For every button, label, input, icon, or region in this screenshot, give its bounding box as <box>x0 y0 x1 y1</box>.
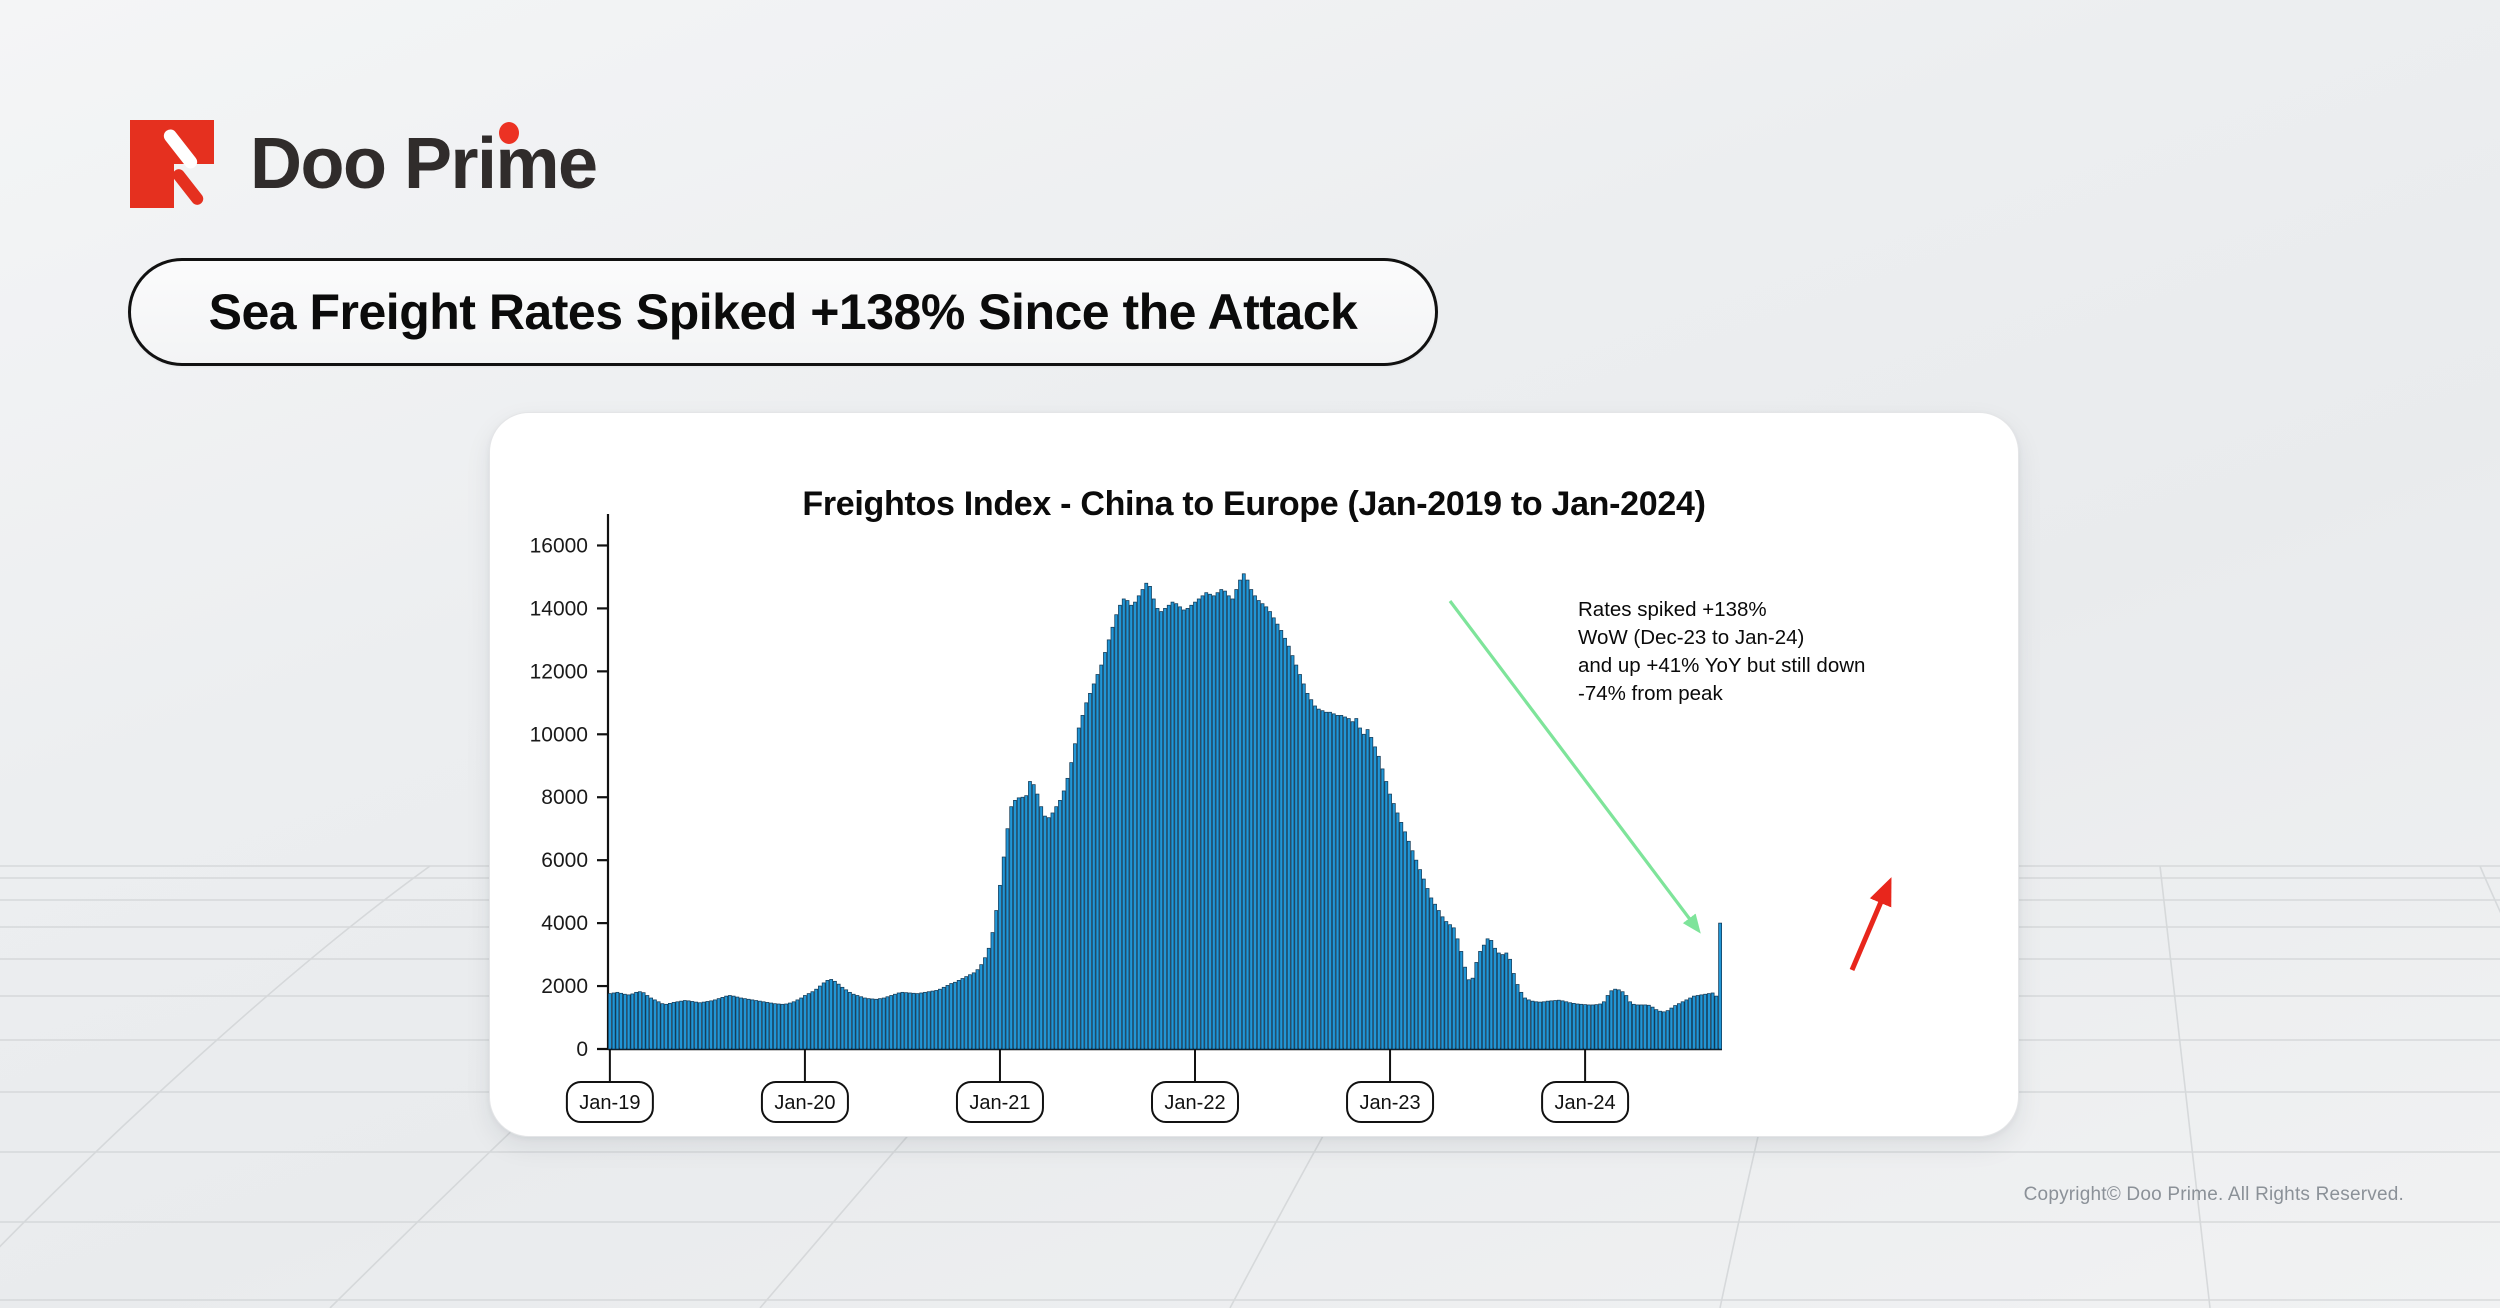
chart-bar <box>1599 1004 1602 1049</box>
chart-bar <box>1719 923 1722 1049</box>
chart-bar <box>1512 973 1515 1049</box>
chart-bar <box>1370 737 1373 1049</box>
chart-bar <box>1216 593 1219 1049</box>
chart-bar <box>1419 870 1422 1049</box>
chart-bar <box>1036 794 1039 1049</box>
chart-bar <box>1145 583 1148 1049</box>
uptrend-arrow-icon <box>1852 890 1886 970</box>
chart-bar <box>706 1001 709 1049</box>
chart-bar <box>1524 998 1527 1049</box>
brand-name-text: Doo Prime <box>250 124 597 204</box>
chart-bar <box>1659 1011 1662 1049</box>
chart-bar <box>1066 778 1069 1049</box>
chart-bar <box>1685 1000 1688 1049</box>
chart-bar <box>762 1002 765 1049</box>
chart-bar <box>1332 714 1335 1049</box>
x-tick-label: Jan-23 <box>1359 1092 1420 1114</box>
chart-bar <box>668 1003 671 1049</box>
chart-bar <box>1539 1002 1542 1049</box>
chart-bar <box>713 1000 716 1049</box>
chart-bar <box>826 980 829 1049</box>
annotation-line-1: Rates spiked +138% <box>1578 598 1767 621</box>
chart-bar <box>976 970 979 1049</box>
chart-bar <box>1186 608 1189 1049</box>
chart-bar <box>758 1001 761 1049</box>
chart-bar <box>680 1001 683 1049</box>
chart-bar <box>1092 684 1095 1049</box>
chart-bar <box>863 998 866 1049</box>
chart-bar <box>833 981 836 1049</box>
chart-bar <box>871 999 874 1049</box>
headline-text: Sea Freight Rates Spiked +138% Since the… <box>209 283 1358 341</box>
chart-bar <box>1250 590 1253 1049</box>
chart-bar <box>965 977 968 1049</box>
chart-bar <box>1017 798 1020 1049</box>
y-tick-label: 4000 <box>541 912 588 935</box>
chart-bar <box>807 994 810 1049</box>
chart-bar <box>1422 879 1425 1049</box>
chart-bar <box>1580 1004 1583 1049</box>
chart-bar <box>1032 785 1035 1049</box>
chart-bar <box>1152 599 1155 1049</box>
chart-bar <box>991 933 994 1049</box>
chart-bar <box>755 1001 758 1049</box>
annotation-line-4: -74% from peak <box>1578 682 1723 705</box>
chart-bar <box>766 1002 769 1049</box>
chart-bar <box>946 985 949 1049</box>
chart-bar <box>683 1001 686 1049</box>
chart-bar <box>1629 1002 1632 1049</box>
chart-bar <box>1340 715 1343 1049</box>
chart-bar <box>665 1004 668 1049</box>
chart-bar <box>1617 990 1620 1049</box>
chart-bar <box>1257 601 1260 1049</box>
chart-bar <box>1088 693 1091 1049</box>
chart-bar <box>1242 574 1245 1049</box>
chart-bar <box>1081 715 1084 1049</box>
chart-bar <box>781 1004 784 1049</box>
chart-bar <box>1486 939 1489 1049</box>
y-tick-label: 16000 <box>530 534 588 557</box>
chart-bar <box>1460 951 1463 1049</box>
chart-bar <box>950 984 953 1049</box>
chart-bar <box>773 1004 776 1049</box>
chart-bar <box>1051 813 1054 1049</box>
chart-bar <box>942 987 945 1049</box>
chart-bar <box>1546 1001 1549 1049</box>
chart-bar <box>1415 860 1418 1049</box>
chart-bar <box>1407 841 1410 1049</box>
chart-bar <box>856 996 859 1050</box>
chart-bar <box>867 999 870 1049</box>
chart-bar <box>1299 675 1302 1050</box>
x-axis-ticks: Jan-19Jan-20Jan-21Jan-22Jan-23Jan-24 <box>567 1049 1628 1122</box>
chart-bar <box>968 975 971 1049</box>
chart-bar <box>792 1002 795 1049</box>
chart-bar <box>1576 1004 1579 1049</box>
chart-bar <box>1272 618 1275 1049</box>
chart-bar <box>1182 610 1185 1049</box>
chart-bar <box>1621 992 1624 1049</box>
chart-bar <box>1426 889 1429 1050</box>
chart-bar <box>852 994 855 1049</box>
chart-bar <box>1205 593 1208 1049</box>
chart-bar <box>1411 851 1414 1049</box>
headline-banner: Sea Freight Rates Spiked +138% Since the… <box>128 258 1438 366</box>
chart-bar <box>1711 993 1714 1049</box>
chart-bar <box>908 993 911 1049</box>
chart-bar <box>1235 590 1238 1049</box>
chart-bar <box>1674 1006 1677 1049</box>
chart-bar <box>1103 652 1106 1049</box>
chart-bar <box>710 1001 713 1049</box>
chart-bar <box>1434 904 1437 1049</box>
chart-bar <box>725 996 728 1049</box>
chart-bar <box>612 993 615 1049</box>
chart-bar <box>953 982 956 1049</box>
chart-bar <box>1520 992 1523 1049</box>
chart-bar <box>1636 1005 1639 1049</box>
chart-bar <box>1006 829 1009 1049</box>
chart-bar <box>623 994 626 1049</box>
chart-bar <box>1160 612 1163 1049</box>
y-tick-label: 12000 <box>530 660 588 683</box>
chart-bar <box>1070 763 1073 1049</box>
chart-bar <box>1689 998 1692 1049</box>
chart-bar <box>1336 715 1339 1049</box>
chart-bar <box>1490 940 1493 1049</box>
chart-bar <box>1133 602 1136 1049</box>
chart-bar <box>661 1004 664 1049</box>
chart-bar <box>1479 951 1482 1049</box>
chart-bar <box>1156 608 1159 1049</box>
chart-bar <box>998 885 1001 1049</box>
chart-bar <box>935 990 938 1049</box>
y-axis-ticks: 0200040006000800010000120001400016000 <box>530 534 608 1061</box>
chart-bar <box>1475 962 1478 1049</box>
chart-bar <box>1261 604 1264 1049</box>
chart-bar <box>1494 948 1497 1049</box>
chart-bar <box>1224 591 1227 1049</box>
chart-bar <box>1542 1002 1545 1049</box>
chart-bar <box>1265 607 1268 1049</box>
chart-bar <box>1085 703 1088 1049</box>
chart-bar <box>1021 797 1024 1049</box>
chart-bar <box>1197 599 1200 1049</box>
chart-bar <box>1028 782 1031 1050</box>
chart-bar <box>1347 719 1350 1049</box>
chart-bar <box>815 989 818 1049</box>
chart-bar <box>1175 604 1178 1049</box>
chart-bar <box>841 987 844 1049</box>
chart-bar <box>1569 1003 1572 1049</box>
chart-bar <box>897 993 900 1049</box>
chart-bar <box>860 997 863 1049</box>
chart-bar <box>1126 601 1129 1049</box>
chart-bar <box>1149 586 1152 1049</box>
chart-bar <box>1696 996 1699 1050</box>
chart-bar <box>1329 712 1332 1049</box>
doo-prime-flag-icon <box>128 118 216 210</box>
chart-bar <box>1239 580 1242 1049</box>
chart-bar <box>1190 605 1193 1049</box>
chart-bar <box>638 992 641 1049</box>
chart-bar <box>770 1003 773 1049</box>
chart-bar <box>1467 980 1470 1049</box>
chart-bar <box>1317 709 1320 1049</box>
chart-bar <box>1561 1001 1564 1049</box>
x-tick-label: Jan-20 <box>774 1092 835 1114</box>
chart-bar <box>1291 656 1294 1049</box>
chart-bar <box>1362 734 1365 1049</box>
chart-bar <box>890 996 893 1050</box>
chart-bar <box>1700 995 1703 1049</box>
chart-bar <box>1351 722 1354 1049</box>
chart-bar <box>972 973 975 1049</box>
chart-bar <box>1355 719 1358 1049</box>
chart-bar <box>1246 580 1249 1049</box>
chart-bar <box>1392 804 1395 1049</box>
chart-bar <box>1377 756 1380 1049</box>
chart-bar <box>1171 602 1174 1049</box>
chart-bar <box>1505 953 1508 1049</box>
chart-bar <box>1707 994 1710 1049</box>
chart-bar <box>1595 1005 1598 1049</box>
chart-bar <box>695 1002 698 1049</box>
chart-bar <box>800 998 803 1049</box>
chart-bar <box>1535 1002 1538 1049</box>
chart-bar <box>608 994 611 1049</box>
chart-bar <box>1670 1008 1673 1049</box>
chart-bar <box>987 948 990 1049</box>
chart-bar <box>1100 665 1103 1049</box>
chart-bar <box>1452 928 1455 1049</box>
y-tick-label: 0 <box>576 1038 588 1061</box>
chart-bar <box>1625 996 1628 1050</box>
chart-bar <box>927 992 930 1049</box>
chart-bar <box>1464 967 1467 1049</box>
chart-bar <box>1404 832 1407 1049</box>
chart-bar <box>1381 769 1384 1049</box>
downtrend-arrow-icon <box>1450 601 1695 926</box>
chart-bar <box>1254 596 1257 1049</box>
y-tick-label: 8000 <box>541 786 588 809</box>
chart-bar <box>1516 984 1519 1049</box>
chart-bar <box>616 992 619 1049</box>
chart-bar <box>1430 898 1433 1049</box>
chart-bar <box>912 993 915 1049</box>
chart-bar <box>1010 807 1013 1049</box>
chart-bar <box>1306 693 1309 1049</box>
logo-accent-dot <box>499 122 519 144</box>
chart-bar <box>732 996 735 1049</box>
rate-spike-annotation: Rates spiked +138% WoW (Dec-23 to Jan-24… <box>1578 598 1865 705</box>
chart-bar <box>1640 1005 1643 1049</box>
brand-name: Doo Prime <box>250 128 597 200</box>
chart-bar <box>1025 796 1028 1049</box>
chart-bar <box>848 992 851 1049</box>
chart-bar <box>878 999 881 1049</box>
chart-bar <box>1287 646 1290 1049</box>
chart-bar <box>886 997 889 1049</box>
chart-bar <box>1314 706 1317 1049</box>
x-tick-label: Jan-22 <box>1164 1092 1225 1114</box>
chart-bar <box>1557 1000 1560 1049</box>
chart-bar <box>1137 596 1140 1049</box>
chart-bar <box>1550 1001 1553 1049</box>
brand-logo: Doo Prime <box>128 118 597 210</box>
chart-bar <box>650 998 653 1049</box>
chart-bar <box>1445 922 1448 1049</box>
chart-bar <box>728 996 731 1050</box>
chart-bar <box>1610 991 1613 1049</box>
chart-bar <box>1441 917 1444 1049</box>
chart-bar <box>803 996 806 1050</box>
chart-bar <box>1141 590 1144 1049</box>
chart-bar <box>1704 994 1707 1049</box>
chart-bar <box>1302 684 1305 1049</box>
chart-bar <box>672 1002 675 1049</box>
chart-bar <box>1396 813 1399 1049</box>
y-tick-label: 10000 <box>530 723 588 746</box>
chart-bar <box>1614 989 1617 1049</box>
chart-bar <box>702 1002 705 1049</box>
chart-bar <box>1655 1010 1658 1049</box>
copyright-text: Copyright© Doo Prime. All Rights Reserve… <box>2024 1184 2404 1206</box>
chart-bar <box>751 1000 754 1049</box>
chart-bar <box>691 1001 694 1049</box>
chart-bar <box>646 996 649 1050</box>
x-tick-label: Jan-19 <box>579 1092 640 1114</box>
chart-bar <box>1449 925 1452 1049</box>
chart-bar <box>983 958 986 1049</box>
y-tick-label: 6000 <box>541 849 588 872</box>
chart-bar <box>627 995 630 1049</box>
chart-bar <box>1209 594 1212 1049</box>
chart-bar <box>1115 615 1118 1049</box>
chart-bar <box>1269 612 1272 1049</box>
chart-bar <box>916 994 919 1049</box>
chart-bar <box>875 999 878 1049</box>
chart-bar <box>818 986 821 1049</box>
chart-bar <box>1602 1002 1605 1049</box>
chart-bar <box>1040 807 1043 1049</box>
chart-bar <box>1527 1000 1530 1049</box>
chart-bar <box>1677 1004 1680 1049</box>
chart-bar <box>1531 1001 1534 1049</box>
chart-bar <box>920 993 923 1049</box>
chart-bar <box>1280 630 1283 1049</box>
chart-bar <box>980 965 983 1049</box>
bar-series <box>608 574 1721 1049</box>
chart-bar <box>1471 978 1474 1049</box>
chart-bar <box>1310 700 1313 1049</box>
chart-bar <box>743 999 746 1049</box>
chart-bar <box>822 983 825 1049</box>
chart-bar <box>1389 794 1392 1049</box>
chart-bar <box>1651 1007 1654 1049</box>
chart-bar <box>1554 1001 1557 1049</box>
chart-bar <box>736 997 739 1049</box>
chart-bar <box>1632 1004 1635 1049</box>
chart-bar <box>788 1003 791 1049</box>
chart-bar <box>995 911 998 1049</box>
chart-bar <box>1606 996 1609 1050</box>
y-tick-label: 14000 <box>530 597 588 620</box>
chart-bar <box>1321 711 1324 1049</box>
chart-bar <box>676 1002 679 1049</box>
chart-bar <box>653 1000 656 1049</box>
chart-bar <box>961 979 964 1049</box>
chart-bar <box>785 1004 788 1049</box>
chart-bar <box>1295 665 1298 1049</box>
chart-bar <box>837 984 840 1049</box>
chart-bar <box>1715 996 1718 1049</box>
annotation-line-2: WoW (Dec-23 to Jan-24) <box>1578 626 1804 649</box>
chart-bar <box>687 1001 690 1049</box>
chart-bar <box>1325 712 1328 1049</box>
chart-bar <box>1276 624 1279 1049</box>
chart-bar <box>1073 744 1076 1049</box>
chart-bar <box>901 992 904 1049</box>
chart-bar <box>845 990 848 1049</box>
chart-bar <box>1644 1005 1647 1049</box>
chart-bar <box>931 991 934 1049</box>
chart-bar <box>1565 1002 1568 1049</box>
chart-bar <box>1692 996 1695 1049</box>
chart-bar <box>642 993 645 1049</box>
chart-bar <box>1058 800 1061 1049</box>
chart-bar <box>1591 1005 1594 1049</box>
chart-bar <box>1227 596 1230 1049</box>
chart-bar <box>1107 640 1110 1049</box>
chart-bar <box>1509 959 1512 1049</box>
chart-bar <box>1077 728 1080 1049</box>
chart-bar <box>1201 596 1204 1049</box>
chart-bar <box>905 993 908 1049</box>
chart-bar <box>1437 911 1440 1049</box>
chart-bar <box>631 994 634 1049</box>
chart-bar <box>1359 728 1362 1049</box>
chart-bar <box>1130 605 1133 1049</box>
chart-bar <box>1584 1005 1587 1049</box>
chart-bar <box>830 979 833 1049</box>
chart-bar <box>777 1004 780 1049</box>
chart-bar <box>1194 602 1197 1049</box>
y-tick-label: 2000 <box>541 975 588 998</box>
chart-bar <box>1482 945 1485 1049</box>
chart-bar <box>1164 608 1167 1049</box>
chart-bar <box>1013 800 1016 1049</box>
chart-bar <box>657 1002 660 1049</box>
chart-bar <box>1400 822 1403 1049</box>
x-tick-label: Jan-21 <box>969 1092 1030 1114</box>
chart-bar <box>1055 807 1058 1049</box>
chart-bar <box>1587 1005 1590 1049</box>
chart-bar <box>1681 1002 1684 1049</box>
annotation-line-3: and up +41% YoY but still down <box>1578 654 1865 677</box>
chart-bar <box>1497 953 1500 1049</box>
chart-bar <box>1666 1011 1669 1049</box>
chart-bar <box>1385 782 1388 1050</box>
chart-bar <box>698 1003 701 1049</box>
chart-bar <box>938 989 941 1049</box>
chart-bar <box>1111 627 1114 1049</box>
chart-bar <box>1118 605 1121 1049</box>
chart-bar <box>882 998 885 1049</box>
chart-bar <box>1662 1012 1665 1049</box>
chart-bar <box>717 999 720 1049</box>
